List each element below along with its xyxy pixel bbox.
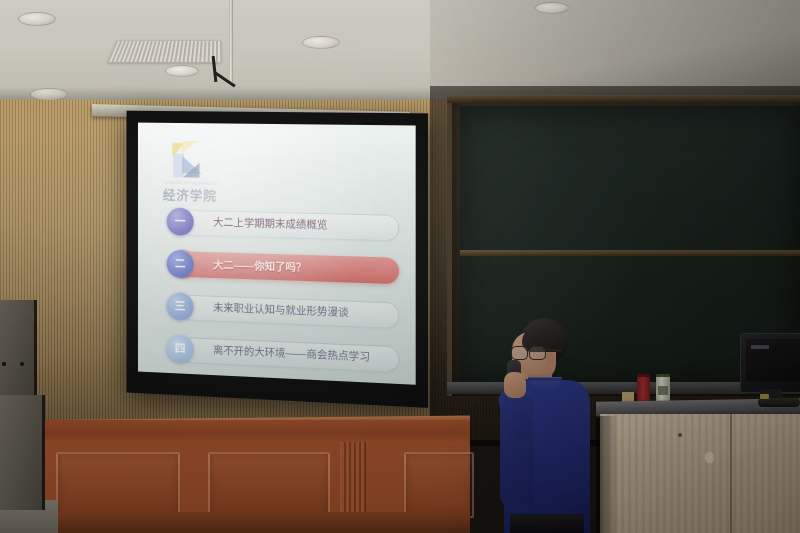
- stage-baseboard: [0, 512, 470, 533]
- agenda-item: 四 离不开的大环境——商会热点学习: [167, 334, 400, 372]
- microphone-on-desk: [758, 398, 800, 407]
- slide-content: SCHOOL OF ECONOMICS 经济学院 一 大二上学期期末成绩概览 二…: [138, 123, 416, 385]
- stage-panel: [208, 452, 330, 518]
- downlight-icon: [302, 36, 340, 49]
- stage-panel: [56, 452, 180, 518]
- podium-wood-grain: [600, 414, 800, 533]
- podium-door-seam: [730, 414, 732, 533]
- microphone-indicator: [760, 394, 769, 399]
- agenda-item-label: 未来职业认知与就业形势漫谈: [213, 294, 349, 327]
- downlight-icon: [165, 65, 199, 77]
- agenda-item-number: 三: [167, 292, 194, 321]
- podium-scuff-mark: [705, 452, 714, 463]
- agenda-item-label: 大二上学期期末成绩概览: [213, 209, 327, 240]
- podium-shadow: [596, 416, 618, 533]
- lecture-hall-photo: SCHOOL OF ECONOMICS 经济学院 一 大二上学期期末成绩概览 二…: [0, 0, 800, 533]
- downlight-icon: [18, 12, 56, 26]
- agenda-item: 三 未来职业认知与就业形势漫谈: [167, 292, 400, 329]
- chalkboard-middle-rail: [460, 250, 800, 256]
- agenda-item: 一 大二上学期期末成绩概览: [167, 208, 400, 242]
- ceiling-right-section: [430, 0, 800, 95]
- agenda-item-number: 一: [167, 208, 194, 236]
- presenter: [498, 318, 590, 533]
- agenda-item-number: 四: [167, 334, 194, 363]
- leaning-board: [0, 395, 45, 510]
- chalkboard-top-edge: [447, 96, 800, 103]
- jar-label: [658, 386, 668, 395]
- agenda-item-active: 二 大二——你知了吗？: [167, 250, 400, 285]
- eyeglasses-icon: [511, 346, 551, 358]
- monitor-brand-logo: [751, 345, 769, 349]
- stage-panel: [404, 452, 474, 518]
- ceiling-air-vent-icon: [108, 40, 221, 62]
- economics-college-emblem-icon: [170, 139, 207, 179]
- projected-slide: SCHOOL OF ECONOMICS 经济学院 一 大二上学期期末成绩概览 二…: [138, 123, 416, 385]
- agenda-item-number: 二: [167, 250, 194, 278]
- podium-knob: [678, 433, 682, 437]
- red-thermos: [637, 377, 650, 403]
- downlight-icon: [535, 2, 569, 14]
- presenter-hand: [504, 372, 526, 398]
- agenda-item-label: 离不开的大环境——商会热点学习: [213, 336, 370, 371]
- agenda-list: 一 大二上学期期末成绩概览 二 大二——你知了吗？ 三 未来职业认知与就业形势漫…: [167, 208, 400, 385]
- agenda-item-label: 大二——你知了吗？: [213, 251, 306, 282]
- logo-chinese-name: 经济学院: [163, 185, 233, 205]
- presenter-trousers: [510, 514, 584, 533]
- projection-screen: SCHOOL OF ECONOMICS 经济学院 一 大二上学期期末成绩概览 二…: [127, 111, 429, 408]
- college-logo: SCHOOL OF ECONOMICS 经济学院: [163, 139, 233, 206]
- leaning-board: [0, 300, 37, 410]
